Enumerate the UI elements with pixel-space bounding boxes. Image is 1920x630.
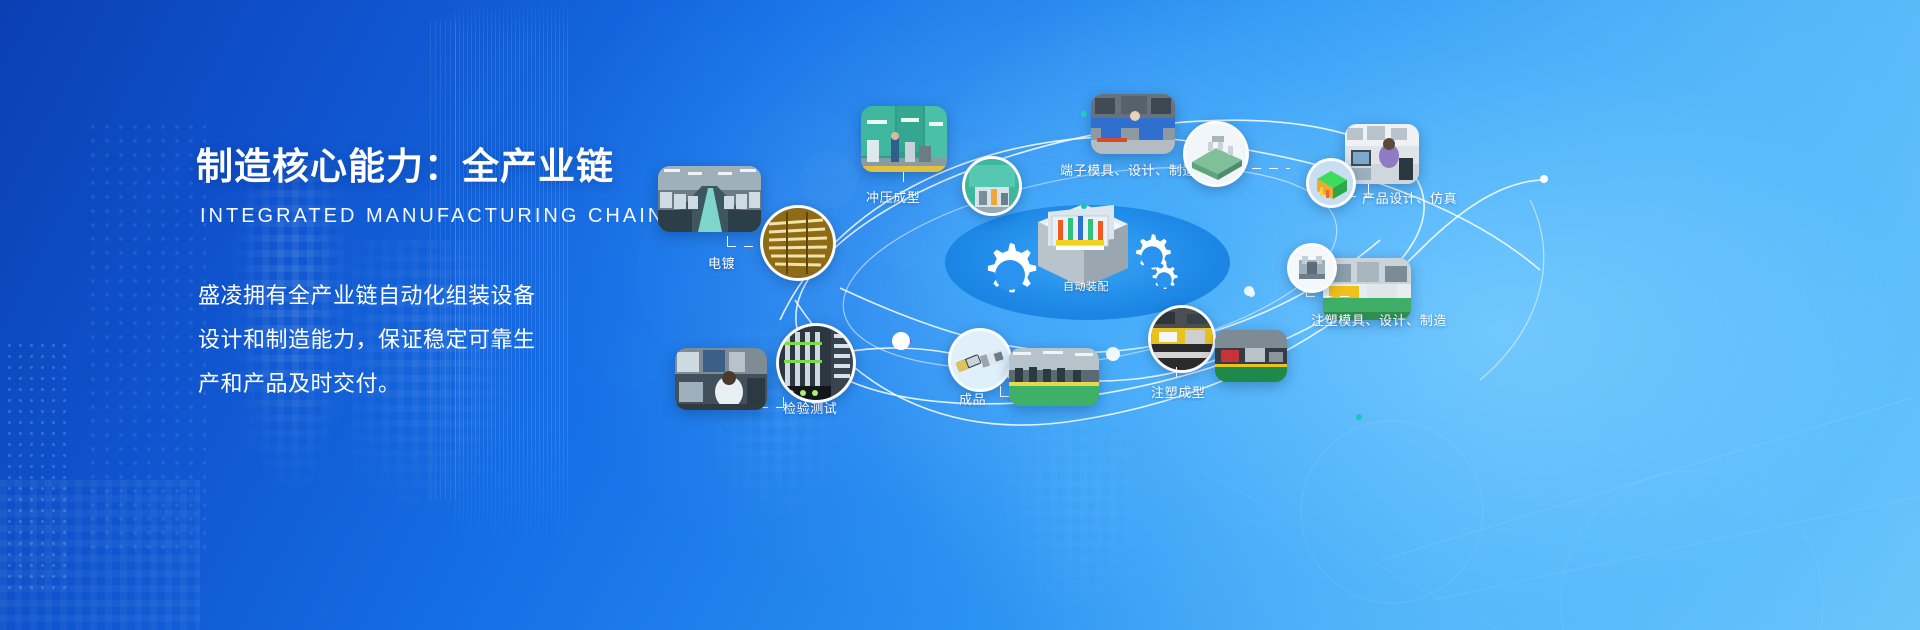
connector-tick	[1176, 367, 1177, 377]
connector-tick	[727, 236, 728, 246]
connector-tick	[903, 172, 904, 182]
process-chain-diagram: 自动装配	[0, 0, 1920, 630]
node-label-injection-molding: 注塑成型	[1151, 382, 1205, 401]
node-circle-inspection-test[interactable]	[776, 323, 856, 403]
node-label-product-design: 产品设计、仿真	[1362, 188, 1457, 207]
node-circle-injection-molding[interactable]	[1148, 305, 1216, 373]
node-thumb-product-design[interactable]	[1345, 124, 1419, 184]
node-thumb-injection-molding-line[interactable]	[1215, 330, 1287, 382]
orbit-curves	[0, 0, 1920, 630]
node-thumb-assembly-line[interactable]	[1009, 348, 1099, 406]
node-circle-injection-mold-part[interactable]	[1287, 243, 1337, 293]
node-label-electroplating: 电镀	[708, 253, 735, 272]
node-thumb-stamping[interactable]	[861, 106, 947, 172]
gear-icon-small	[1146, 262, 1182, 298]
node-label-finished-product: 成品	[959, 389, 986, 408]
node-circle-terminal-strip[interactable]	[760, 205, 836, 281]
node-label-inspection-test: 检验测试	[783, 398, 837, 417]
node-thumb-inspection-lab[interactable]	[675, 348, 767, 410]
connector-dash	[1306, 296, 1350, 297]
node-circle-stamping-detail[interactable]	[962, 156, 1022, 216]
manufacturing-capability-banner: 制造核心能力：全产业链 INTEGRATED MANUFACTURING CHA…	[0, 0, 1920, 630]
node-label-terminal-mold: 端子模具、设计、制造	[1060, 160, 1196, 179]
node-circle-3d-model[interactable]	[1306, 158, 1356, 208]
connector-tick	[1000, 386, 1001, 396]
center-node-label: 自动装配	[1063, 278, 1109, 294]
node-label-stamping: 冲压成型	[866, 187, 920, 206]
node-thumb-terminal-mold[interactable]	[1091, 94, 1175, 154]
node-label-injection-mold: 注塑模具、设计、制造	[1311, 310, 1447, 329]
node-thumb-electroplating[interactable]	[658, 166, 761, 232]
node-circle-finished-product[interactable]	[948, 328, 1012, 392]
node-circle-terminal-mold-part[interactable]	[1183, 121, 1249, 187]
